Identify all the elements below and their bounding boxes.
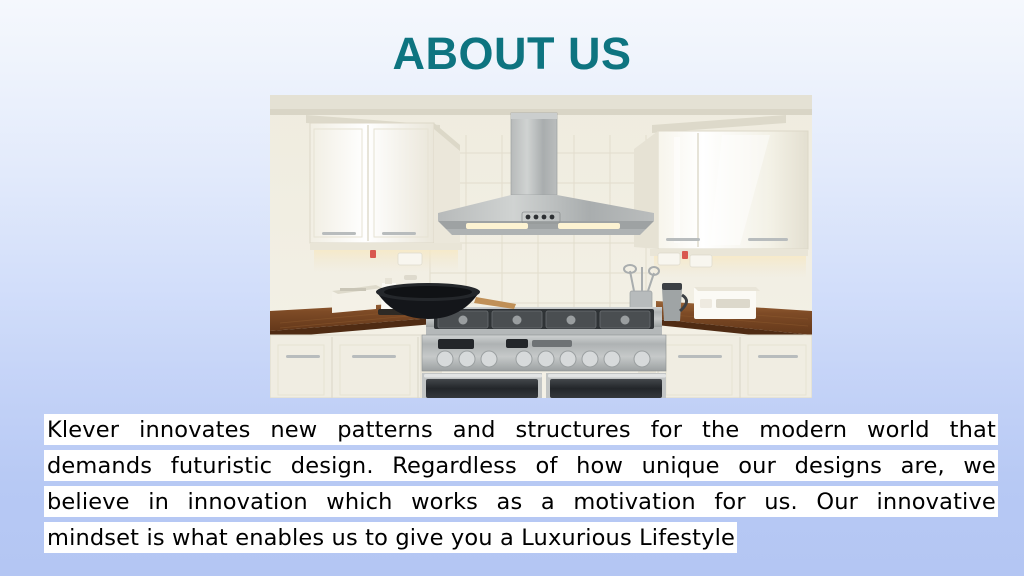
body-line-text: are, xyxy=(901,453,945,479)
body-line-text: design. xyxy=(291,453,374,479)
body-line-text: innovation xyxy=(188,489,308,515)
body-line-text: for xyxy=(714,489,745,515)
body-line: believeininnovationwhichworksasamotivati… xyxy=(44,486,1004,517)
body-line: demandsfuturisticdesign.Regardlessofhowu… xyxy=(44,450,1004,481)
body-line-text: motivation xyxy=(573,489,695,515)
body-line-text: for xyxy=(651,417,682,443)
body-line-text: believe xyxy=(47,489,130,515)
body-line: Kleverinnovatesnewpatternsandstructuresf… xyxy=(44,414,1004,445)
body-line-text: a xyxy=(541,489,555,515)
body-line: mindset is what enables us to give you a… xyxy=(44,522,1004,553)
body-line-text: Our xyxy=(816,489,858,515)
body-line-text: unique xyxy=(642,453,720,479)
body-line-text: new xyxy=(270,417,317,443)
body-line-text: our xyxy=(738,453,776,479)
kitchen-photo xyxy=(270,95,812,398)
body-line-text: of xyxy=(536,453,558,479)
about-us-body-text: Kleverinnovatesnewpatternsandstructuresf… xyxy=(44,414,1004,558)
body-line-text: mindset is what enables us to give you a… xyxy=(47,525,735,551)
body-line-text: structures xyxy=(515,417,630,443)
body-line-text: in xyxy=(148,489,169,515)
body-line-text: we xyxy=(963,453,996,479)
kitchen-photo-frame xyxy=(270,95,812,398)
body-line-text: patterns xyxy=(337,417,433,443)
body-line-text: modern xyxy=(759,417,847,443)
body-line-text: world xyxy=(867,417,930,443)
body-line-text: futuristic xyxy=(171,453,272,479)
page-title: ABOUT US xyxy=(0,27,1024,81)
body-line-text: Klever xyxy=(47,417,119,443)
body-line-text: innovates xyxy=(139,417,250,443)
body-line-text: innovative xyxy=(877,489,996,515)
body-line-text: and xyxy=(453,417,496,443)
body-line-text: demands xyxy=(47,453,152,479)
body-line-text: us. xyxy=(764,489,798,515)
body-line-text: how xyxy=(576,453,623,479)
body-line-text: that xyxy=(950,417,996,443)
body-line-text: which xyxy=(326,489,392,515)
slide-canvas: ABOUT US xyxy=(0,0,1024,576)
body-line-text: Regardless xyxy=(392,453,517,479)
body-line-text: as xyxy=(497,489,523,515)
body-line-text: designs xyxy=(795,453,882,479)
body-line-text: works xyxy=(411,489,478,515)
body-line-text: the xyxy=(702,417,739,443)
